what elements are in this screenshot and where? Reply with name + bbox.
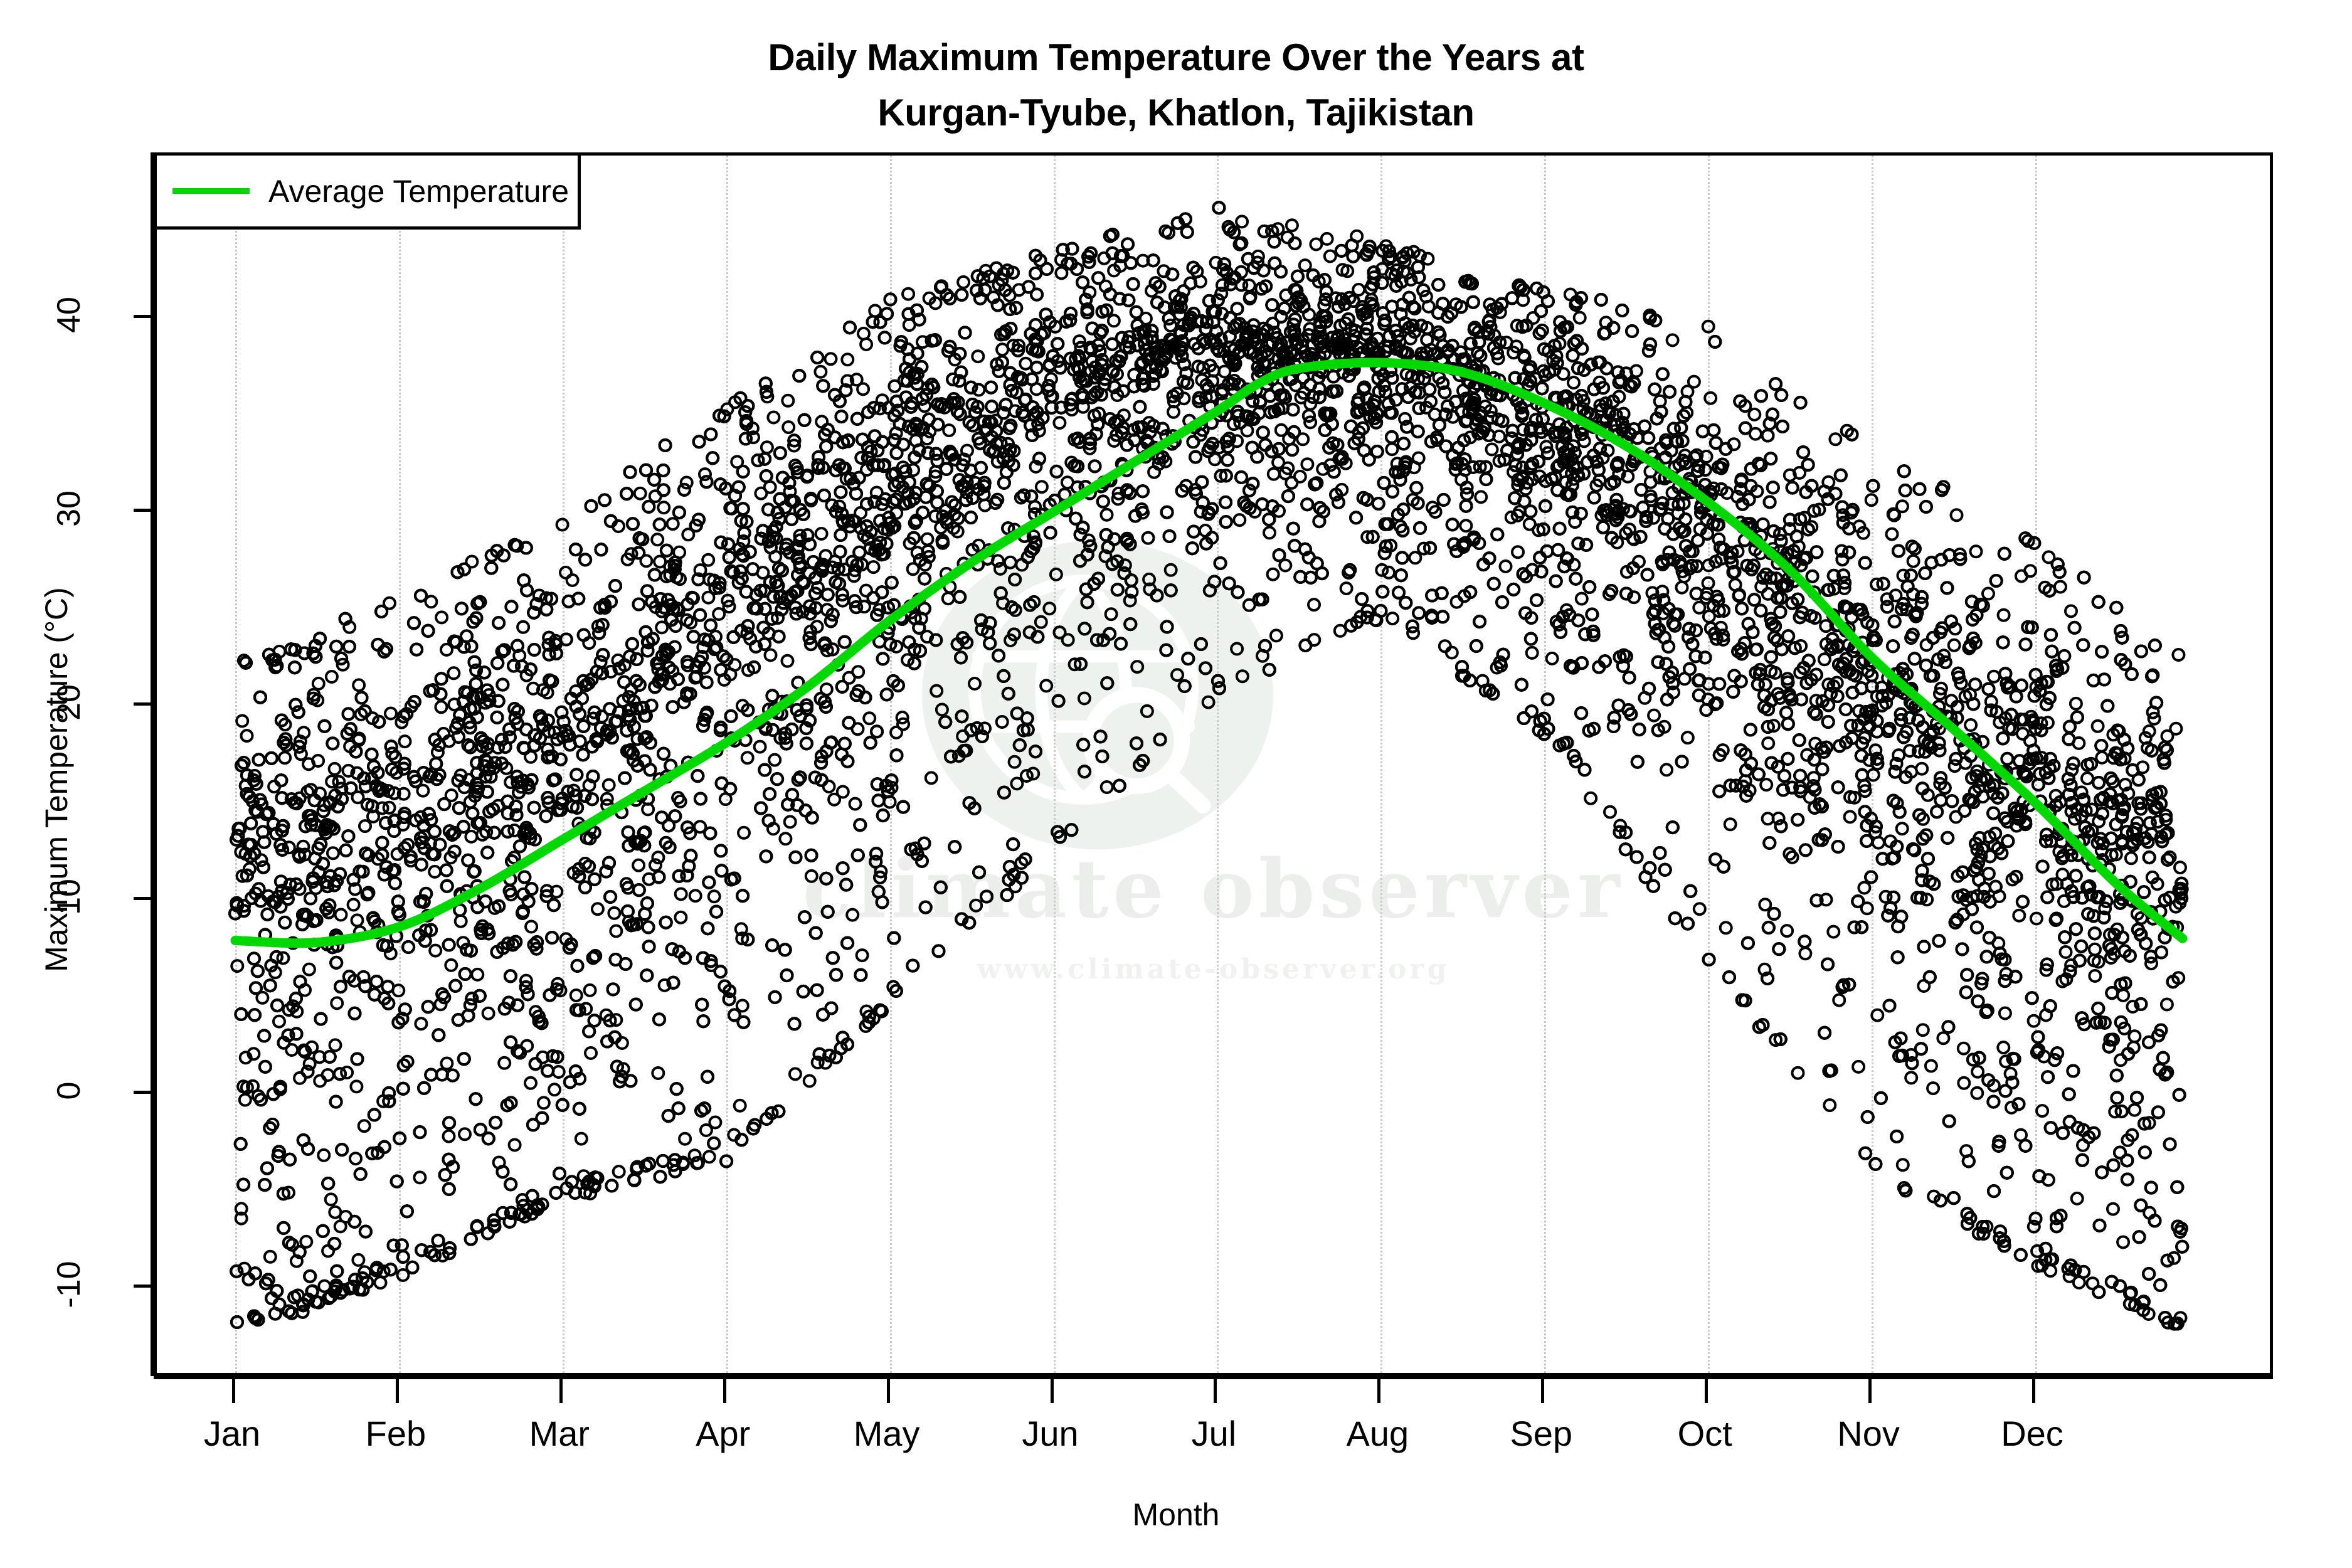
x-tick-mark-sep: [1541, 1379, 1544, 1403]
y-tick-label--10: -10: [19, 1268, 119, 1301]
x-axis-label: Month: [0, 1499, 2352, 1530]
y-tick-label-0: 0: [19, 1074, 119, 1107]
x-tick-label-sep: Sep: [1466, 1416, 1616, 1451]
x-tick-label-nov: Nov: [1793, 1416, 1944, 1451]
x-tick-mark-jan: [232, 1379, 235, 1403]
average-temperature-line: [235, 363, 2183, 943]
x-tick-label-apr: Apr: [648, 1416, 798, 1451]
x-tick-mark-mar: [559, 1379, 563, 1403]
page-title: Daily Maximum Temperature Over the Years…: [0, 30, 2352, 140]
y-tick-mark-30: [134, 509, 154, 512]
x-tick-mark-jun: [1051, 1379, 1054, 1403]
x-tick-label-jan: Jan: [157, 1416, 307, 1451]
x-tick-label-oct: Oct: [1629, 1416, 1780, 1451]
x-tick-mark-may: [887, 1379, 890, 1403]
y-tick-mark-0: [134, 1091, 154, 1094]
x-tick-mark-apr: [723, 1379, 726, 1403]
x-tick-label-may: May: [812, 1416, 962, 1451]
legend-label-average-temperature: Average Temperature: [268, 176, 569, 207]
x-tick-mark-jul: [1214, 1379, 1217, 1403]
y-axis-line: [151, 152, 154, 1376]
x-tick-label-aug: Aug: [1302, 1416, 1453, 1451]
title-line-1: Daily Maximum Temperature Over the Years…: [0, 30, 2352, 85]
x-tick-label-dec: Dec: [1957, 1416, 2107, 1451]
x-tick-label-jul: Jul: [1138, 1416, 1289, 1451]
legend[interactable]: Average Temperature: [154, 152, 581, 230]
y-tick-label-30: 30: [19, 492, 119, 525]
x-tick-label-jun: Jun: [975, 1416, 1126, 1451]
y-tick-label-40: 40: [19, 299, 119, 331]
y-tick-mark-10: [134, 897, 154, 900]
plot-inner: climate observer www.climate-observer.or…: [157, 156, 2270, 1373]
y-axis-label: Maximum Temperature (°C): [41, 529, 72, 1030]
x-tick-label-feb: Feb: [320, 1416, 471, 1451]
x-tick-mark-oct: [1705, 1379, 1708, 1403]
y-tick-mark--10: [134, 1285, 154, 1288]
x-tick-mark-nov: [1868, 1379, 1872, 1403]
average-temperature-curve: [157, 156, 2270, 1373]
x-tick-mark-dec: [2032, 1379, 2035, 1403]
x-tick-mark-aug: [1377, 1379, 1380, 1403]
x-tick-label-mar: Mar: [484, 1416, 635, 1451]
plot-area: climate observer www.climate-observer.or…: [154, 152, 2273, 1376]
legend-color-swatch-average-temperature: [172, 188, 250, 194]
y-tick-mark-40: [134, 315, 154, 318]
y-tick-mark-20: [134, 702, 154, 706]
x-tick-mark-feb: [396, 1379, 399, 1403]
title-line-2: Kurgan-Tyube, Khatlon, Tajikistan: [0, 85, 2352, 140]
